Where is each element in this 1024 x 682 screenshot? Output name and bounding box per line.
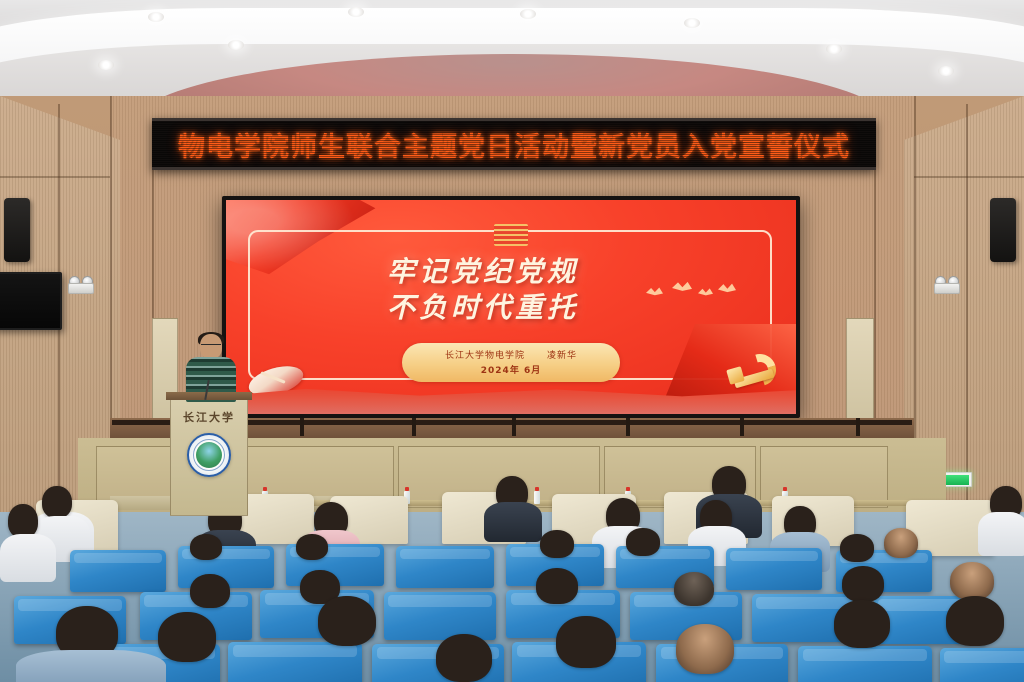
person-head	[536, 568, 578, 604]
person-shoulders	[484, 502, 542, 542]
person-shoulders	[0, 534, 56, 582]
party-emblem-icon	[728, 350, 782, 398]
person-head	[42, 486, 72, 518]
audience-seat[interactable]	[940, 648, 1024, 682]
downlight-icon	[148, 12, 164, 22]
downlight-icon	[684, 18, 700, 28]
person-head	[296, 534, 328, 560]
dove-icon	[698, 287, 713, 297]
person-head	[884, 528, 918, 558]
yangtze-university-crest-icon	[187, 433, 231, 477]
podium-label: 长江大学	[171, 409, 247, 425]
slide-date: 2024年 6月	[402, 363, 620, 376]
audience-seat[interactable]	[70, 550, 166, 592]
person-head	[190, 574, 230, 608]
person-head	[950, 562, 994, 600]
person-head	[842, 566, 884, 602]
dove-icon	[672, 280, 692, 293]
led-banner-text: 物电学院师生联合主题党日活动暨新党员入党宣誓仪式	[178, 125, 850, 164]
slide-credit-pill: 长江大学物电学院 凌新华 2024年 6月	[402, 343, 620, 382]
slide-org: 长江大学物电学院	[445, 351, 525, 361]
wall-seam	[966, 104, 968, 514]
loudspeaker-icon	[990, 198, 1016, 262]
person-head	[834, 600, 890, 648]
downlight-icon	[826, 44, 842, 54]
person-head	[676, 624, 734, 674]
dove-icon	[646, 286, 663, 297]
person-head	[840, 534, 874, 562]
rail-post	[856, 418, 860, 436]
water-bottle	[534, 487, 540, 504]
downlight-icon	[348, 7, 364, 17]
person-shoulders	[978, 512, 1024, 556]
person-head	[436, 634, 492, 682]
presenter-person	[186, 334, 236, 400]
slide-frame-notch	[494, 224, 528, 246]
slide-presenter: 凌新华	[547, 351, 577, 361]
dove-icon	[718, 282, 736, 294]
slide-content: 牢记党纪党规 不负时代重托 长江大学物电学院 凌新华 2024年 6月	[226, 200, 796, 414]
presentation-screen[interactable]: 牢记党纪党规 不负时代重托 长江大学物电学院 凌新华 2024年 6月	[222, 196, 800, 418]
rail-post	[626, 418, 630, 436]
person-shoulders	[16, 650, 166, 682]
downlight-icon	[98, 60, 114, 70]
wall-seam	[874, 170, 876, 440]
downlight-icon	[228, 40, 244, 50]
audience-seat[interactable]	[726, 548, 822, 590]
person-head	[626, 528, 660, 556]
loudspeaker-icon	[4, 198, 30, 262]
rail-post	[512, 418, 516, 436]
podium-top	[166, 392, 252, 400]
wall-monitor-icon	[0, 272, 62, 330]
led-banner: 物电学院师生联合主题党日活动暨新党员入党宣誓仪式	[152, 118, 876, 170]
audience-seat[interactable]	[384, 592, 496, 640]
person-head	[946, 596, 1004, 646]
emergency-light-icon	[68, 276, 94, 294]
person-head	[190, 534, 222, 560]
auditorium-scene: 物电学院师生联合主题党日活动暨新党员入党宣誓仪式 牢记党纪党规 不负时代重托 长…	[0, 0, 1024, 682]
downlight-icon	[938, 66, 954, 76]
downlight-icon	[520, 9, 536, 19]
slide-credit-line: 长江大学物电学院 凌新华	[402, 348, 620, 361]
audience-seat[interactable]	[396, 546, 494, 588]
rail-post	[740, 418, 744, 436]
rail-post	[300, 418, 304, 436]
audience-seat[interactable]	[228, 642, 362, 682]
emergency-light-icon	[934, 276, 960, 294]
rail-post	[412, 418, 416, 436]
wall-seam	[0, 176, 110, 178]
dove-silhouettes	[646, 278, 742, 306]
person-head	[158, 612, 216, 662]
person-head	[8, 504, 38, 538]
person-head	[556, 616, 616, 668]
person-head	[318, 596, 376, 646]
audience-seat[interactable]	[798, 646, 932, 682]
glasses-icon	[201, 344, 221, 349]
person-head	[674, 572, 714, 606]
person-head	[540, 530, 574, 558]
wall-seam	[914, 176, 1024, 178]
podium: 长江大学	[170, 396, 248, 516]
